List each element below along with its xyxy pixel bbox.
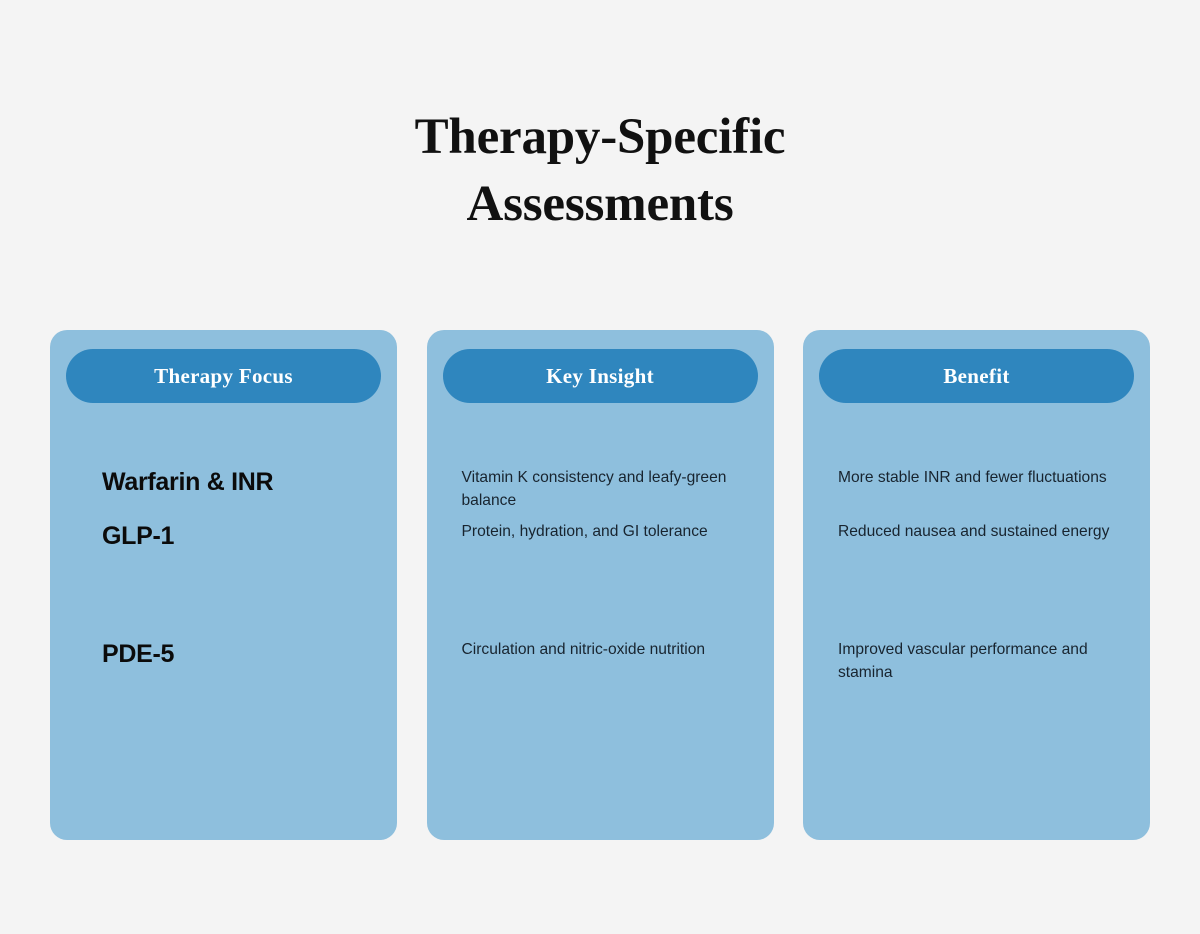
therapy-focus-value: PDE-5 — [66, 639, 174, 669]
column-header-benefit: Benefit — [819, 349, 1134, 403]
column-header-therapy-focus: Therapy Focus — [66, 349, 381, 403]
page-title-line-1: Therapy-Specific — [0, 104, 1200, 171]
table-row: GLP-1 — [66, 521, 381, 639]
therapy-focus-value: GLP-1 — [66, 521, 174, 551]
benefit-value: Improved vascular performance and stamin… — [819, 639, 1132, 684]
column-header-key-insight: Key Insight — [443, 349, 758, 403]
card-key-insight: Key Insight Vitamin K consistency and le… — [427, 330, 774, 840]
benefit-value: Reduced nausea and sustained energy — [819, 521, 1113, 544]
column-header-label: Therapy Focus — [154, 364, 293, 389]
table-row: Vitamin K consistency and leafy-green ba… — [443, 403, 758, 521]
card-rows-key-insight: Vitamin K consistency and leafy-green ba… — [427, 403, 774, 757]
table-row: Reduced nausea and sustained energy — [819, 521, 1134, 639]
card-rows-therapy-focus: Warfarin & INR GLP-1 PDE-5 — [50, 403, 397, 757]
table-row: Protein, hydration, and GI tolerance — [443, 521, 758, 639]
card-therapy-focus: Therapy Focus Warfarin & INR GLP-1 PDE-5 — [50, 330, 397, 840]
therapy-focus-value: Warfarin & INR — [66, 467, 273, 497]
column-header-label: Benefit — [943, 364, 1009, 389]
card-benefit: Benefit More stable INR and fewer fluctu… — [803, 330, 1150, 840]
page-title: Therapy-Specific Assessments — [0, 104, 1200, 238]
column-header-label: Key Insight — [546, 364, 654, 389]
slide-canvas: Therapy-Specific Assessments Therapy Foc… — [0, 0, 1200, 934]
table-row: Warfarin & INR — [66, 403, 381, 521]
comparison-card-group: Therapy Focus Warfarin & INR GLP-1 PDE-5… — [50, 330, 1150, 840]
key-insight-value: Vitamin K consistency and leafy-green ba… — [443, 467, 756, 512]
table-row: Circulation and nitric-oxide nutrition — [443, 639, 758, 757]
table-row: More stable INR and fewer fluctuations — [819, 403, 1134, 521]
table-row: PDE-5 — [66, 639, 381, 757]
table-row: Improved vascular performance and stamin… — [819, 639, 1134, 757]
key-insight-value: Protein, hydration, and GI tolerance — [443, 521, 712, 544]
page-title-line-2: Assessments — [0, 171, 1200, 238]
key-insight-value: Circulation and nitric-oxide nutrition — [443, 639, 710, 662]
card-rows-benefit: More stable INR and fewer fluctuations R… — [803, 403, 1150, 757]
benefit-value: More stable INR and fewer fluctuations — [819, 467, 1111, 490]
